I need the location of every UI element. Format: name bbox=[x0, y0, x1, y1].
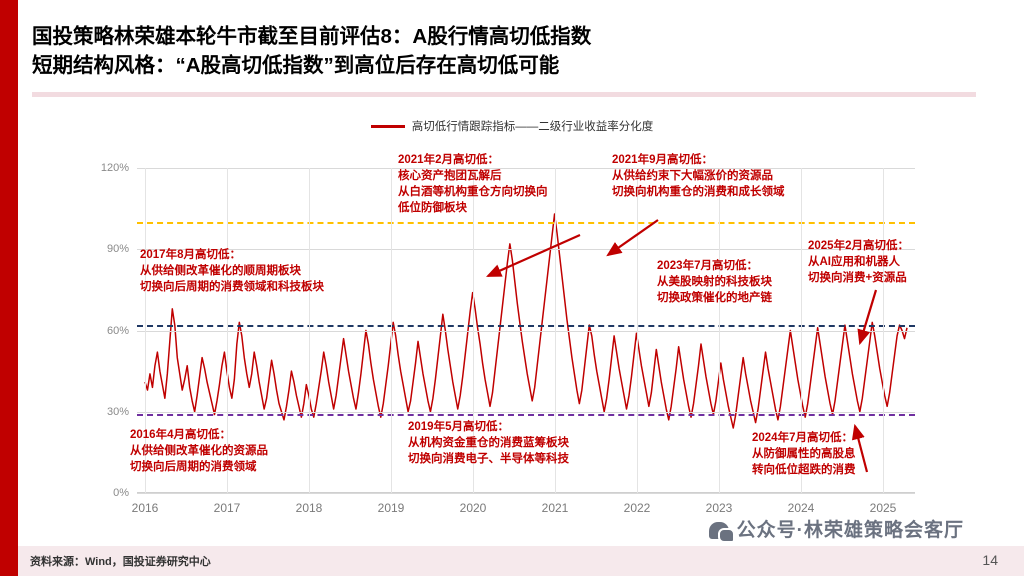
chart-legend: 高切低行情跟踪指标——二级行业收益率分化度 bbox=[0, 118, 1024, 134]
annotation-2025: 2025年2月高切低： 从AI应用和机器人 切换向消费+资源品 bbox=[808, 238, 909, 286]
x-tick-label: 2023 bbox=[706, 501, 733, 515]
gridline-y-60 bbox=[137, 331, 915, 332]
source-note: 资料来源：Wind，国投证券研究中心 bbox=[30, 553, 211, 569]
annotation-2024: 2024年7月高切低： 从防御属性的高股息 转向低位超跌的消费 bbox=[752, 430, 856, 478]
x-tick-label: 2016 bbox=[132, 501, 159, 515]
reference-line-100 bbox=[137, 222, 915, 224]
x-tick-label: 2019 bbox=[378, 501, 405, 515]
wechat-icon bbox=[709, 522, 729, 539]
gridline-x-2018 bbox=[309, 168, 310, 493]
reference-line-29 bbox=[137, 414, 915, 416]
legend-label: 高切低行情跟踪指标——二级行业收益率分化度 bbox=[412, 118, 654, 134]
watermark: 公众号·林荣雄策略会客厅 bbox=[709, 515, 964, 542]
x-tick-label: 2024 bbox=[788, 501, 815, 515]
gridline-y-30 bbox=[137, 412, 915, 413]
annotation-2021-sep: 2021年9月高切低： 从供给约束下大幅涨价的资源品 切换向机构重仓的消费和成长… bbox=[612, 152, 785, 200]
watermark-text: 公众号·林荣雄策略会客厅 bbox=[737, 520, 964, 541]
arrow-2021-sep bbox=[600, 215, 670, 265]
footer-accent bbox=[0, 546, 18, 576]
x-tick-label: 2020 bbox=[460, 501, 487, 515]
x-tick-label: 2021 bbox=[542, 501, 569, 515]
gridline-x-2019 bbox=[391, 168, 392, 493]
y-tick-label: 0% bbox=[113, 487, 129, 499]
x-tick-label: 2022 bbox=[624, 501, 651, 515]
slide-root: 国投策略林荣雄本轮牛市截至目前评估8：A股行情高切低指数 短期结构风格：“A股高… bbox=[0, 0, 1024, 576]
annotation-2023: 2023年7月高切低： 从美股映射的科技板块 切换政策催化的地产链 bbox=[657, 258, 772, 306]
title-underline bbox=[32, 92, 976, 97]
arrow-2024 bbox=[845, 420, 885, 480]
annotation-2021-feb: 2021年2月高切低： 核心资产抱团瓦解后 从白酒等机构重仓方向切换向 低位防御… bbox=[398, 152, 548, 216]
arrow-2025 bbox=[846, 285, 896, 355]
left-accent-bar bbox=[0, 0, 18, 576]
y-tick-label: 120% bbox=[101, 162, 129, 174]
y-tick-label: 30% bbox=[107, 406, 129, 418]
y-tick-label: 60% bbox=[107, 325, 129, 337]
gridline-y-0 bbox=[137, 493, 915, 494]
title-line-1: 国投策略林荣雄本轮牛市截至目前评估8：A股行情高切低指数 bbox=[32, 22, 912, 51]
title-line-2: 短期结构风格：“A股高切低指数”到高位后存在高切低可能 bbox=[32, 51, 912, 80]
annotation-2016: 2016年4月高切低： 从供给侧改革催化的资源品 切换向后周期的消费领域 bbox=[130, 427, 268, 475]
x-tick-label: 2025 bbox=[870, 501, 897, 515]
arrow-2021-feb bbox=[480, 230, 590, 290]
annotation-2017: 2017年8月高切低： 从供给侧改革催化的顺周期板块 切换向后周期的消费领域和科… bbox=[140, 247, 324, 295]
x-tick-label: 2017 bbox=[214, 501, 241, 515]
gridline-x-2023 bbox=[719, 168, 720, 493]
legend-line-swatch bbox=[371, 125, 405, 128]
x-tick-label: 2018 bbox=[296, 501, 323, 515]
reference-line-62 bbox=[137, 325, 915, 327]
annotation-2019: 2019年5月高切低： 从机构资金重仓的消费蓝筹板块 切换向消费电子、半导体等科… bbox=[408, 419, 569, 467]
y-tick-label: 90% bbox=[107, 243, 129, 255]
page-title: 国投策略林荣雄本轮牛市截至目前评估8：A股行情高切低指数 短期结构风格：“A股高… bbox=[32, 22, 912, 80]
page-number: 14 bbox=[982, 552, 998, 568]
